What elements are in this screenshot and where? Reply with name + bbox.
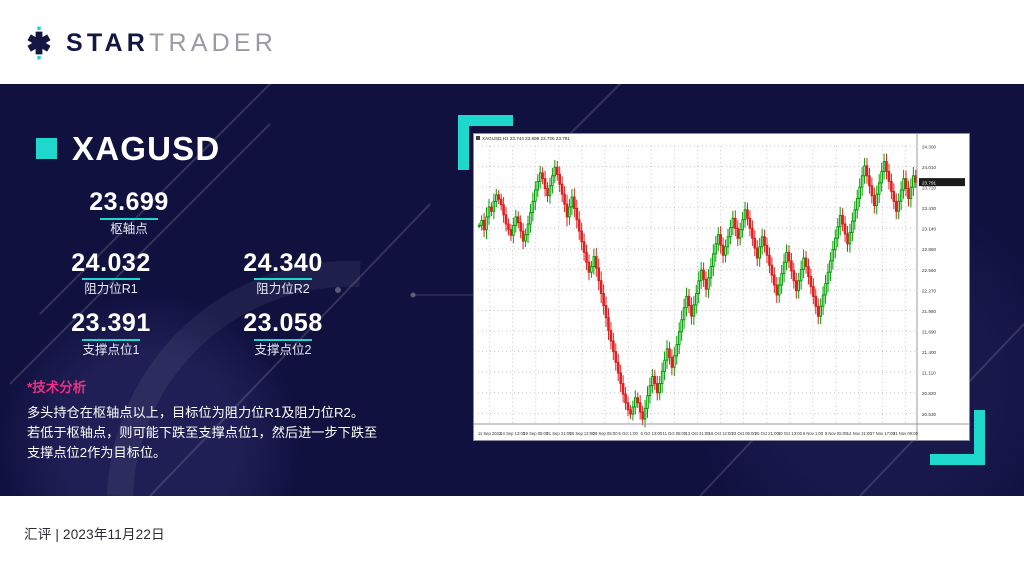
svg-text:24.010: 24.010 bbox=[922, 165, 936, 170]
level-underline bbox=[254, 339, 312, 341]
svg-text:20.530: 20.530 bbox=[922, 412, 936, 417]
svg-text:22.850: 22.850 bbox=[922, 247, 936, 252]
level-underline bbox=[82, 339, 140, 341]
svg-text:6 Oct 13:00: 6 Oct 13:00 bbox=[640, 431, 662, 436]
svg-text:21.400: 21.400 bbox=[922, 350, 936, 355]
svg-text:6 Nov 1:00: 6 Nov 1:00 bbox=[803, 431, 824, 436]
brand-logo: STARTRADER bbox=[22, 26, 277, 60]
level-pivot-label: 枢轴点 bbox=[110, 222, 148, 237]
analysis-line-3: 支撑点位2作为目标位。 bbox=[27, 443, 417, 463]
svg-text:29 Sep 05:00: 29 Sep 05:00 bbox=[593, 431, 619, 436]
svg-text:23 Oct 05:00: 23 Oct 05:00 bbox=[732, 431, 757, 436]
main-banner: XAGUSD 23.699 枢轴点 24.032 阻力位R1 24.340 bbox=[0, 84, 1024, 496]
level-support-2-label: 支撑点位2 bbox=[255, 343, 312, 358]
title-square-bullet-icon bbox=[36, 138, 57, 159]
svg-text:21.980: 21.980 bbox=[922, 309, 936, 314]
svg-text:21.690: 21.690 bbox=[922, 329, 936, 334]
candlestick-chart: 24.30024.01023.72023.43023.14022.85022.5… bbox=[474, 134, 969, 440]
level-support-2: 23.058 支撑点位2 bbox=[208, 310, 358, 358]
svg-text:14 Nov 21:00: 14 Nov 21:00 bbox=[847, 431, 873, 436]
svg-text:20.820: 20.820 bbox=[922, 391, 936, 396]
brand-name-primary: STAR bbox=[66, 29, 149, 57]
level-resistance-2-value: 24.340 bbox=[243, 250, 322, 278]
level-underline bbox=[254, 278, 312, 280]
svg-text:9 Nov 05:00: 9 Nov 05:00 bbox=[825, 431, 848, 436]
info-panel: XAGUSD 23.699 枢轴点 24.032 阻力位R1 24.340 bbox=[0, 84, 430, 496]
svg-text:11 Sep 2023: 11 Sep 2023 bbox=[478, 431, 502, 436]
svg-text:5 Oct 1:00: 5 Oct 1:00 bbox=[619, 431, 639, 436]
footer-caption: 汇评 | 2023年11月22日 bbox=[24, 523, 165, 543]
price-chart[interactable]: 24.30024.01023.72023.43023.14022.85022.5… bbox=[473, 133, 970, 441]
analysis-line-2: 若低于枢轴点，则可能下跌至支撑点位1，然后进一步下跌至 bbox=[27, 423, 417, 443]
level-underline bbox=[100, 218, 158, 220]
svg-text:30 Oct 13:00: 30 Oct 13:00 bbox=[778, 431, 803, 436]
level-pivot-value: 23.699 bbox=[89, 189, 168, 217]
svg-text:21 Nov 09:00: 21 Nov 09:00 bbox=[893, 431, 919, 436]
instrument-symbol: XAGUSD bbox=[72, 132, 220, 165]
support-row: 23.391 支撑点位1 23.058 支撑点位2 bbox=[36, 310, 366, 358]
svg-text:23.791: 23.791 bbox=[922, 180, 936, 185]
asterisk-star-icon bbox=[22, 26, 56, 60]
level-support-1-label: 支撑点位1 bbox=[83, 343, 140, 358]
level-resistance-2: 24.340 阻力位R2 bbox=[208, 250, 358, 298]
level-support-2-value: 23.058 bbox=[243, 310, 322, 338]
svg-text:23.720: 23.720 bbox=[922, 186, 936, 191]
analysis-block: *技术分析 多头持仓在枢轴点以上，目标位为阻力位R1及阻力位R2。 若低于枢轴点… bbox=[27, 380, 417, 463]
svg-text:14 Sep 13:00: 14 Sep 13:00 bbox=[500, 431, 526, 436]
slide: STARTRADER bbox=[0, 0, 1024, 576]
level-resistance-1-value: 24.032 bbox=[71, 250, 150, 278]
instrument-title: XAGUSD bbox=[36, 132, 220, 165]
svg-text:11 Oct 05:00: 11 Oct 05:00 bbox=[663, 431, 687, 436]
analysis-title: *技术分析 bbox=[27, 380, 417, 396]
svg-text:23.140: 23.140 bbox=[922, 227, 936, 232]
brand-wordmark: STARTRADER bbox=[66, 31, 277, 56]
svg-text:24.300: 24.300 bbox=[922, 144, 936, 149]
level-resistance-2-label: 阻力位R2 bbox=[256, 282, 309, 297]
chart-region: 24.30024.01023.72023.43023.14022.85022.5… bbox=[440, 115, 985, 465]
analysis-body: 多头持仓在枢轴点以上，目标位为阻力位R1及阻力位R2。 若低于枢轴点，则可能下跌… bbox=[27, 403, 417, 463]
level-pivot: 23.699 枢轴点 bbox=[54, 189, 204, 237]
svg-text:18 Oct 13:00: 18 Oct 13:00 bbox=[709, 431, 734, 436]
footer-bar: 汇评 | 2023年11月22日 bbox=[0, 496, 1024, 576]
header-bar: STARTRADER bbox=[0, 0, 1024, 84]
levels-block: 23.699 枢轴点 24.032 阻力位R1 24.340 阻力位R2 bbox=[36, 189, 366, 358]
svg-text:22.270: 22.270 bbox=[922, 288, 936, 293]
svg-text:21.110: 21.110 bbox=[922, 371, 936, 376]
svg-text:23.430: 23.430 bbox=[922, 206, 936, 211]
svg-text:21 Sep 21:00: 21 Sep 21:00 bbox=[546, 431, 572, 436]
svg-text:17 Nov 17:00: 17 Nov 17:00 bbox=[870, 431, 896, 436]
svg-text:25 Oct 21:00: 25 Oct 21:00 bbox=[755, 431, 780, 436]
svg-text:26 Sep 13:00: 26 Sep 13:00 bbox=[570, 431, 596, 436]
resistance-row: 24.032 阻力位R1 24.340 阻力位R2 bbox=[36, 250, 366, 298]
svg-text:XAGUSD,H1 23.744 23.899 23.72: XAGUSD,H1 23.744 23.899 23.726 23.791 bbox=[482, 136, 570, 141]
level-support-1: 23.391 支撑点位1 bbox=[36, 310, 186, 358]
svg-text:19 Sep 05:00: 19 Sep 05:00 bbox=[523, 431, 549, 436]
level-resistance-1: 24.032 阻力位R1 bbox=[36, 250, 186, 298]
level-underline bbox=[82, 278, 140, 280]
level-resistance-1-label: 阻力位R1 bbox=[84, 282, 137, 297]
svg-text:22.560: 22.560 bbox=[922, 268, 936, 273]
level-support-1-value: 23.391 bbox=[71, 310, 150, 338]
svg-text:13 Oct 21:00: 13 Oct 21:00 bbox=[686, 431, 711, 436]
analysis-line-1: 多头持仓在枢轴点以上，目标位为阻力位R1及阻力位R2。 bbox=[27, 403, 417, 423]
brand-name-secondary: TRADER bbox=[149, 29, 277, 57]
